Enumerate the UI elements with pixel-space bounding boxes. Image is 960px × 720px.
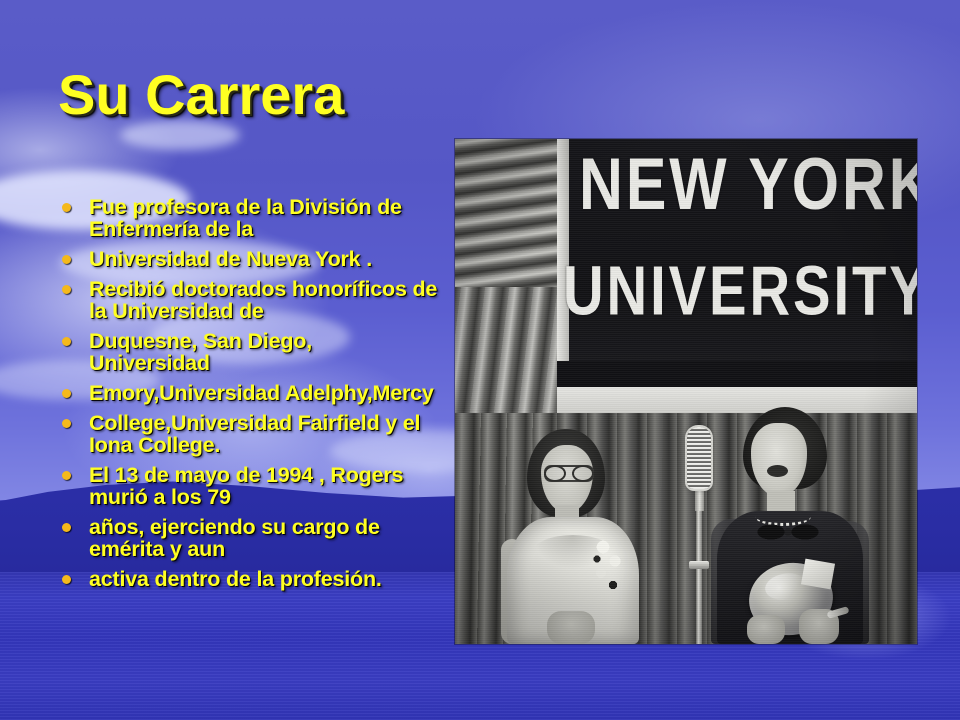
photo-corsage-flowers bbox=[591, 537, 625, 593]
list-item-line2: Iona College. bbox=[89, 434, 460, 456]
photo-woman-right-hand-left bbox=[747, 615, 785, 644]
bullet-dot-icon bbox=[62, 203, 71, 212]
microphone-stand bbox=[696, 507, 702, 644]
list-item-line1: Fue profesora de la División de bbox=[89, 195, 402, 219]
list-item-line2: la Universidad de bbox=[89, 300, 460, 322]
list-item: El 13 de mayo de 1994 , Rogers murió a l… bbox=[56, 464, 460, 508]
microphone-stand-collar bbox=[689, 561, 709, 569]
list-item-line1: años, ejerciendo su cargo de bbox=[89, 515, 380, 539]
list-item-line1: activa dentro de la profesión. bbox=[89, 567, 382, 591]
photo-banner-text-line2: UNIVERSITY bbox=[563, 251, 917, 331]
list-item-line2: Enfermería de la bbox=[89, 218, 460, 240]
page-title: Su Carrera bbox=[58, 62, 344, 127]
list-item-line1: Emory,Universidad Adelphy,Mercy bbox=[89, 381, 434, 405]
list-item: Emory,Universidad Adelphy,Mercy bbox=[56, 382, 460, 404]
list-item: activa dentro de la profesión. bbox=[56, 568, 460, 590]
list-item: Universidad de Nueva York . bbox=[56, 248, 460, 270]
list-item: Duquesne, San Diego, Universidad bbox=[56, 330, 460, 374]
photo-award-paper bbox=[801, 559, 835, 590]
bullet-dot-icon bbox=[62, 575, 71, 584]
photo-woman-right-mouth bbox=[767, 465, 788, 477]
list-item: Recibió doctorados honoríficos de la Uni… bbox=[56, 278, 460, 322]
photo-banner-white-stripe bbox=[557, 387, 917, 413]
list-item-line1: El 13 de mayo de 1994 , Rogers bbox=[89, 463, 403, 487]
list-item-line1: Recibió doctorados honoríficos de bbox=[89, 277, 437, 301]
photo-banner-lower-dark bbox=[557, 361, 917, 389]
presentation-slide: Su Carrera Fue profesora de la División … bbox=[0, 0, 960, 720]
photo-banner-text-line1: NEW YORK bbox=[579, 143, 917, 227]
microphone-neck bbox=[695, 487, 704, 511]
list-item: College,Universidad Fairfield y el Iona … bbox=[56, 412, 460, 456]
slide-photograph: NEW YORK UNIVERSITY bbox=[455, 139, 917, 644]
list-item-line2: Universidad bbox=[89, 352, 460, 374]
list-item-line1: College,Universidad Fairfield y el bbox=[89, 411, 420, 435]
list-item: años, ejerciendo su cargo de emérita y a… bbox=[56, 516, 460, 560]
list-item-line2: emérita y aun bbox=[89, 538, 460, 560]
list-item: Fue profesora de la División de Enfermer… bbox=[56, 196, 460, 240]
bullet-dot-icon bbox=[62, 523, 71, 532]
bullet-dot-icon bbox=[62, 471, 71, 480]
list-item-line2: murió a los 79 bbox=[89, 486, 460, 508]
bullet-dot-icon bbox=[62, 389, 71, 398]
eyeglasses-icon bbox=[544, 465, 594, 482]
photo-woman-left-hands bbox=[547, 611, 595, 644]
photo-bow-tie bbox=[757, 521, 819, 543]
bullet-dot-icon bbox=[62, 255, 71, 264]
bullet-dot-icon bbox=[62, 285, 71, 294]
microphone-icon bbox=[687, 427, 711, 489]
list-item-line1: Universidad de Nueva York . bbox=[89, 247, 372, 271]
list-item-line1: Duquesne, San Diego, bbox=[89, 329, 312, 353]
bullet-list: Fue profesora de la División de Enfermer… bbox=[56, 196, 460, 598]
bullet-dot-icon bbox=[62, 337, 71, 346]
bullet-dot-icon bbox=[62, 419, 71, 428]
